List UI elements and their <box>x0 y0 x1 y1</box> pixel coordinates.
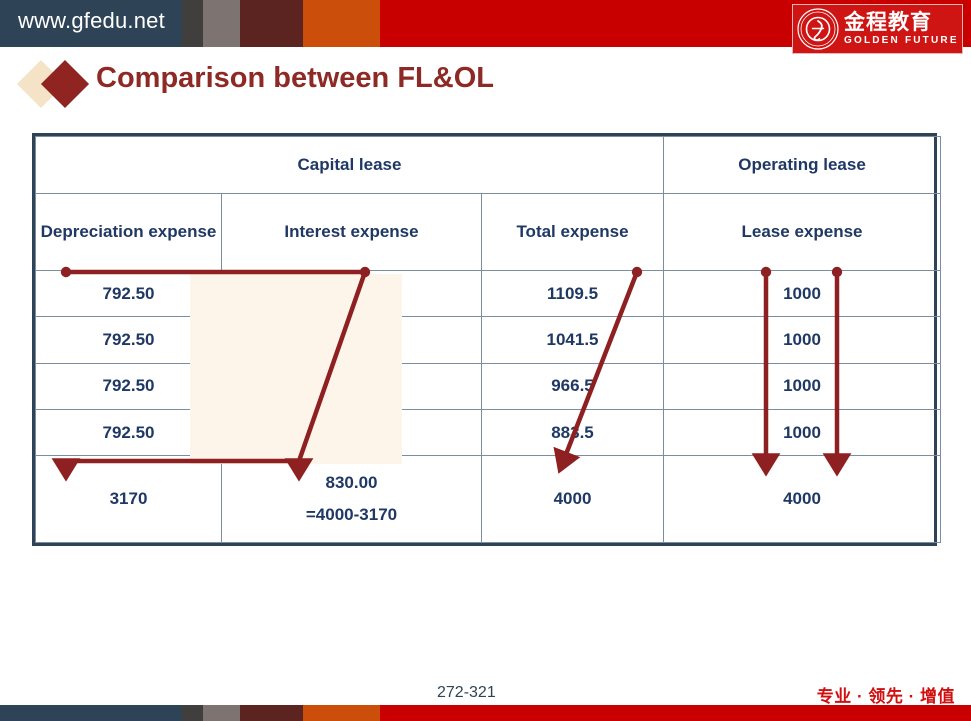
header-band-gray <box>203 0 240 47</box>
cell-depreciation: 792.50 <box>36 317 222 363</box>
column-header-lease-expense: Lease expense <box>664 194 941 271</box>
cell-lease: 1000 <box>664 409 941 455</box>
table-row: 792.50 317 1109.5 1000 <box>36 270 941 316</box>
logo-name-cn: 金程教育 <box>844 12 959 33</box>
column-header-interest-expense: Interest expense <box>222 194 482 271</box>
cell-interest: 174 <box>222 363 482 409</box>
table-row: 792.50 174 966.5 1000 <box>36 363 941 409</box>
header-band-dkgray <box>182 0 203 47</box>
cell-lease: 1000 <box>664 270 941 316</box>
cell-lease: 1000 <box>664 317 941 363</box>
column-header-depreciation-expense: Depreciation expense <box>36 194 222 271</box>
table-total-row: 3170 830.00 =4000-3170 4000 4000 <box>36 456 941 543</box>
lease-comparison-table: Capital lease Operating lease Depreciati… <box>32 133 937 546</box>
footer-band-red <box>380 705 971 721</box>
page-title: Comparison between FL&OL <box>96 62 494 95</box>
cell-total: 1109.5 <box>482 270 664 316</box>
cell-total: 966.5 <box>482 363 664 409</box>
total-lease-expense: 4000 <box>664 456 941 543</box>
site-url[interactable]: www.gfedu.net <box>18 8 165 34</box>
header-band-orange <box>303 0 380 47</box>
table-row: 792.50 91 883.5 1000 <box>36 409 941 455</box>
cell-total: 1041.5 <box>482 317 664 363</box>
brand-logo[interactable]: 金程教育 GOLDEN FUTURE <box>792 4 963 54</box>
footer-band-orange <box>303 705 380 721</box>
logo-text: 金程教育 GOLDEN FUTURE <box>844 12 959 46</box>
cell-interest: 91 <box>222 409 482 455</box>
table-group-header-row: Capital lease Operating lease <box>36 137 941 194</box>
cell-depreciation: 792.50 <box>36 409 222 455</box>
total-total-expense: 4000 <box>482 456 664 543</box>
cell-total: 883.5 <box>482 409 664 455</box>
group-header-operating-lease: Operating lease <box>664 137 941 194</box>
title-row: Comparison between FL&OL <box>0 58 971 110</box>
cell-depreciation: 792.50 <box>36 270 222 316</box>
cell-lease: 1000 <box>664 363 941 409</box>
column-header-total-expense: Total expense <box>482 194 664 271</box>
slide: www.gfedu.net 金程教育 GOLDEN FUTURE Compari… <box>0 0 971 721</box>
table-row: 792.50 249 1041.5 1000 <box>36 317 941 363</box>
footer-band-dkgray <box>182 705 203 721</box>
footer-color-bar <box>0 705 971 721</box>
total-depreciation: 3170 <box>36 456 222 543</box>
footer-tagline: 专业 · 领先 · 增值 <box>817 682 955 707</box>
table-column-header-row: Depreciation expense Interest expense To… <box>36 194 941 271</box>
footer-band-maroon <box>240 705 303 721</box>
group-header-capital-lease: Capital lease <box>36 137 664 194</box>
logo-name-en: GOLDEN FUTURE <box>844 36 959 46</box>
footer-band-navy <box>0 705 182 721</box>
footer-band-gray <box>203 705 240 721</box>
total-interest-note: =4000-3170 <box>222 505 481 525</box>
cell-interest: 317 <box>222 270 482 316</box>
cell-depreciation: 792.50 <box>36 363 222 409</box>
cell-interest: 249 <box>222 317 482 363</box>
total-interest-value: 830.00 <box>326 473 378 492</box>
total-interest: 830.00 =4000-3170 <box>222 456 482 543</box>
seal-icon <box>796 7 840 51</box>
header-band-maroon <box>240 0 303 47</box>
page-number: 272-321 <box>437 684 496 702</box>
